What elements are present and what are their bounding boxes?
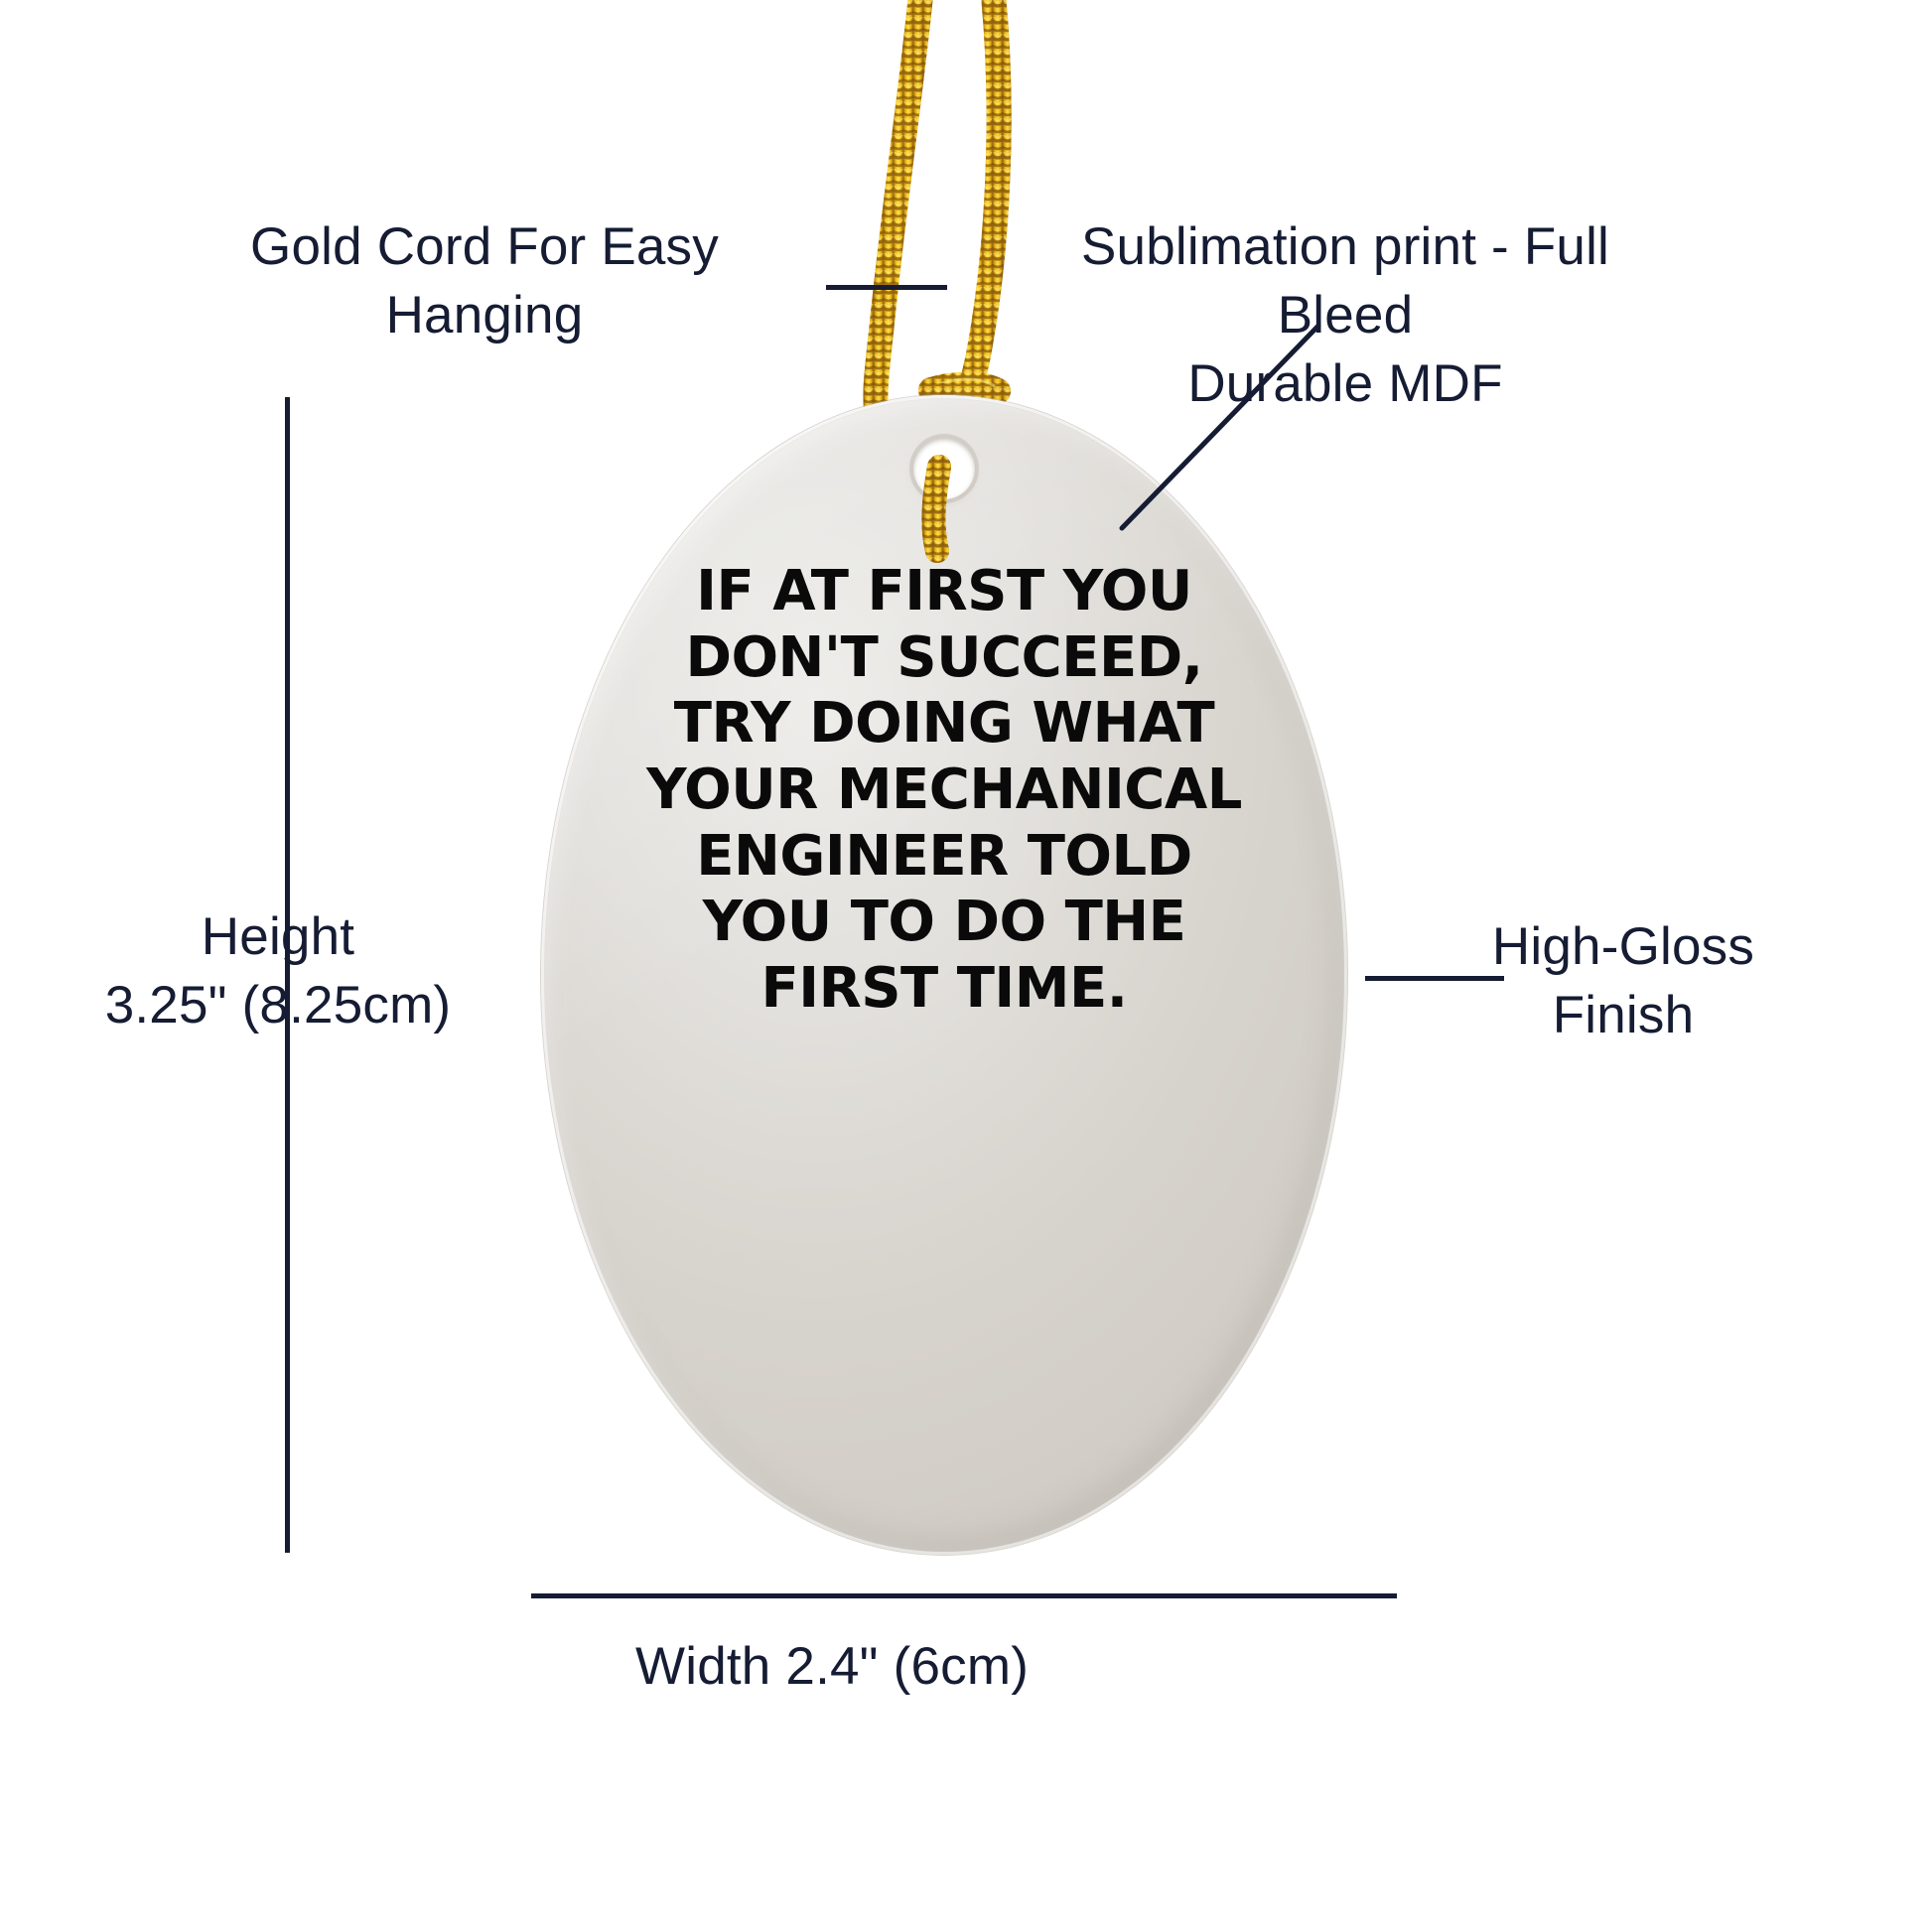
annotation-height: Height 3.25" (8.25cm) xyxy=(69,903,486,1040)
annotation-sublimation: Sublimation print - Full Bleed Durable M… xyxy=(1067,213,1623,419)
ornament-quote-text: IF AT FIRST YOU DON'T SUCCEED, TRY DOING… xyxy=(646,559,1242,1022)
cord-knot xyxy=(931,379,998,391)
ornament-hanging-hole xyxy=(913,438,975,499)
annotation-gold-cord: Gold Cord For Easy Hanging xyxy=(226,213,743,350)
cord-strand-left xyxy=(876,0,921,417)
oval-ornament: IF AT FIRST YOU DON'T SUCCEED, TRY DOING… xyxy=(541,395,1347,1555)
annotation-high-gloss: High-Gloss Finish xyxy=(1445,913,1802,1050)
annotation-width: Width 2.4" (6cm) xyxy=(635,1633,1191,1702)
infographic-canvas: IF AT FIRST YOU DON'T SUCCEED, TRY DOING… xyxy=(0,0,1932,1932)
leader-line-cord xyxy=(826,285,947,290)
dimension-line-width xyxy=(531,1593,1397,1598)
